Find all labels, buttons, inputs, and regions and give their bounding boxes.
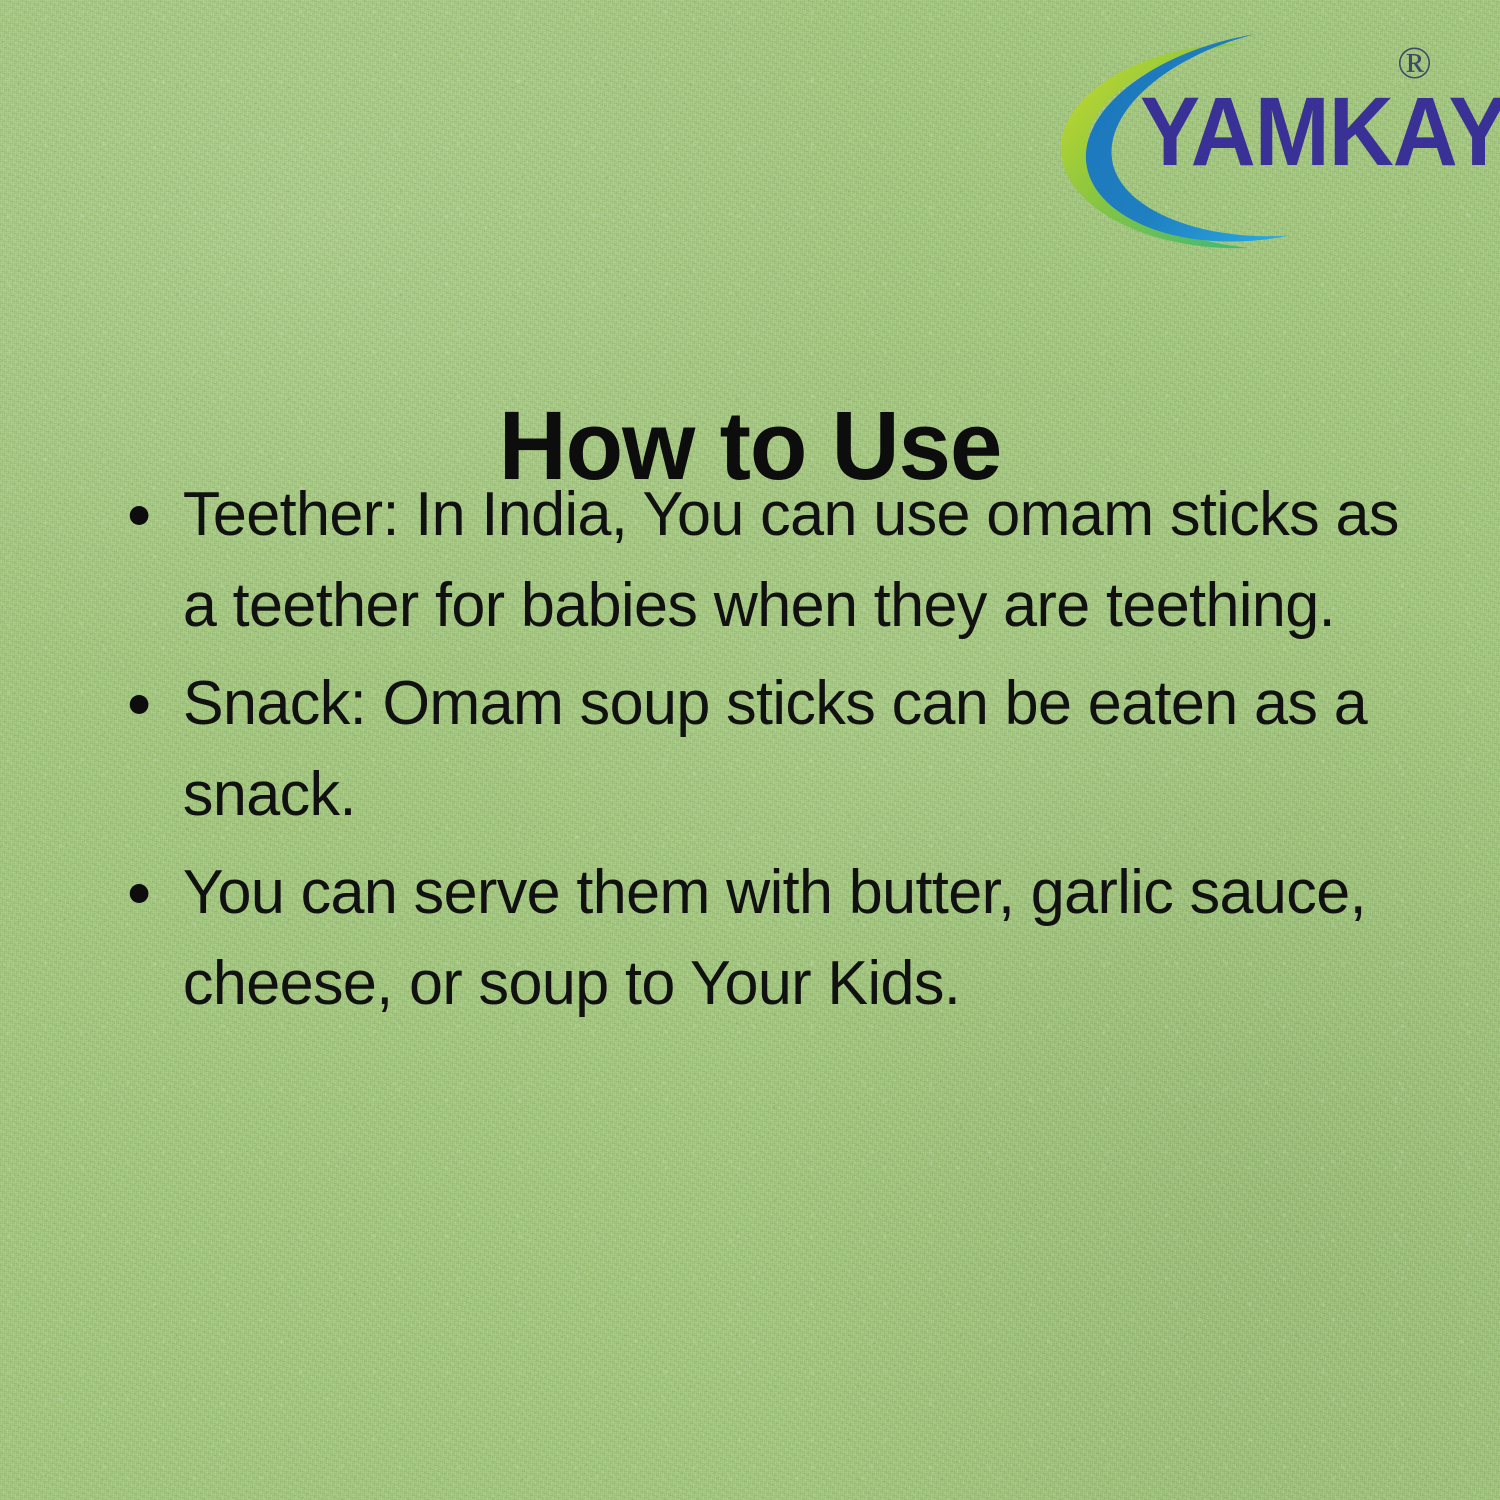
list-item-text: Teether: In India, You can use omam stic… [183, 480, 1399, 640]
list-item: You can serve them with butter, garlic s… [112, 848, 1422, 1029]
list-item-text: Snack: Omam soup sticks can be eaten as … [183, 669, 1367, 829]
list-item-text: You can serve them with butter, garlic s… [183, 858, 1366, 1018]
how-to-use-list: Teether: In India, You can use omam stic… [112, 470, 1442, 1037]
bullet-dot-icon [130, 695, 149, 714]
bullet-dot-icon [130, 884, 149, 903]
list-item: Teether: In India, You can use omam stic… [112, 470, 1422, 651]
bullet-dot-icon [130, 506, 149, 525]
list-item: Snack: Omam soup sticks can be eaten as … [112, 659, 1422, 840]
product-info-poster: YAMKAY ® How to Use Teether: In India, Y… [0, 0, 1500, 1500]
content-area: How to Use Teether: In India, You can us… [0, 0, 1500, 1500]
